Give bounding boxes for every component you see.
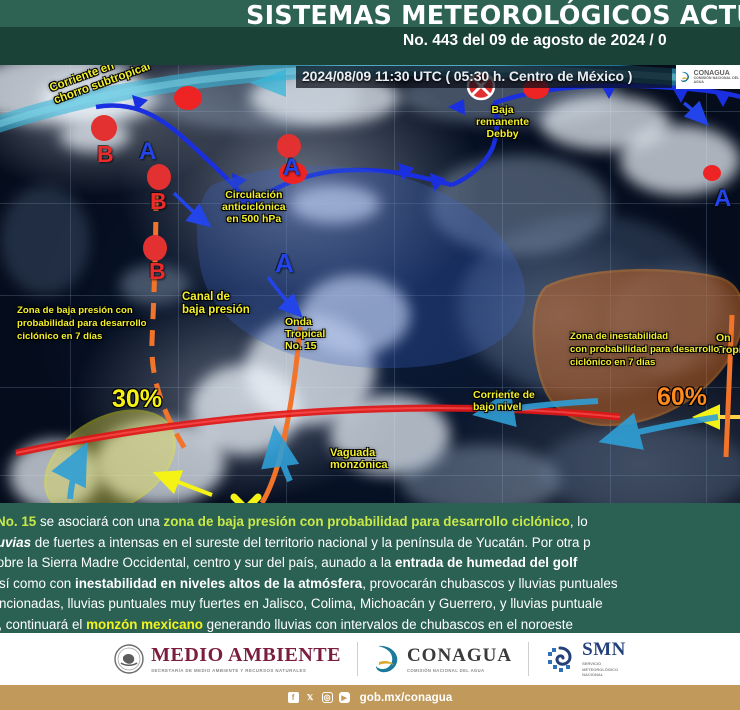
body-l2-a: de lluvias: [0, 535, 31, 550]
conagua-text: CONAGUA COMISIÓN NACIONAL DEL AGUA: [407, 646, 512, 673]
smn-subtitle: SERVICIO METEOROLÓGICO NACIONAL: [582, 661, 626, 677]
high-pressure-mark-a3: A: [275, 250, 294, 276]
map-timestamp: 2024/08/09 11:30 UTC ( 05:30 h. Centro d…: [302, 68, 632, 84]
website-url[interactable]: gob.mx/conagua: [360, 692, 453, 704]
medio-ambiente-subtitle: SECRETARÍA DE MEDIO AMBIENTE Y RECURSOS …: [151, 668, 341, 673]
conagua-title: CONAGUA: [407, 646, 512, 665]
facebook-icon[interactable]: f: [288, 692, 299, 703]
conagua-eagle-icon: [374, 643, 400, 675]
high-pressure-mark-a4: A: [714, 187, 731, 211]
body-l6-b: monzón mexicano: [86, 617, 203, 632]
body-l3-b: sobre la Sierra Madre Occidental, centro…: [0, 555, 395, 570]
logo-smn: SMN SERVICIO METEOROLÓGICO NACIONAL: [529, 640, 642, 677]
bulletin-number: No. 443 del 09 de agosto de 2024 / 0: [403, 32, 667, 50]
body-l3-c: entrada de humedad del golf: [395, 555, 577, 570]
body-line-5: s mencionadas, lluvias puntuales muy fue…: [0, 594, 740, 615]
conagua-chip-text: CONAGUA COMISIÓN NACIONAL DEL AGUA: [694, 70, 740, 84]
smn-title: SMN: [582, 640, 626, 659]
weather-bulletin-page: SISTEMAS METEOROLÓGICOS ACTU No. 443 del…: [0, 0, 740, 710]
body-l6-a: ismo, continuará el: [0, 617, 86, 632]
body-l1-b: se asociará con una: [36, 514, 163, 529]
satellite-map[interactable]: Corriente en chorro subtropical Circulac…: [0, 65, 740, 503]
body-l4-d: , provocarán chubascos y lluvias puntual…: [362, 576, 617, 591]
cyclone-zone-yellow-probability: 30%: [112, 387, 162, 412]
body-l5-a: s mencionadas, lluvias puntuales muy fue…: [0, 596, 603, 611]
body-line-1: ical No. 15 se asociará con una zona de …: [0, 512, 740, 533]
smn-text: SMN SERVICIO METEOROLÓGICO NACIONAL: [582, 640, 626, 677]
medio-ambiente-title: MEDIO AMBIENTE: [151, 645, 341, 665]
high-pressure-mark-a2: A: [283, 156, 300, 180]
smn-spiral-icon: [545, 644, 575, 674]
footer-logos: MEDIO AMBIENTE SECRETARÍA DE MEDIO AMBIE…: [0, 633, 740, 685]
conagua-subtitle: COMISIÓN NACIONAL DEL AGUA: [407, 668, 512, 673]
body-l6-c: generando lluvias con intervalos de chub…: [203, 617, 573, 632]
conagua-eagle-icon: [680, 69, 691, 85]
low-pressure-mark-b3: B: [149, 260, 166, 283]
weather-overlay: [0, 65, 740, 503]
high-pressure-mark-a1: A: [139, 140, 156, 164]
body-l2-b: de fuertes a intensas en el sureste del …: [31, 535, 591, 550]
mexico-seal-icon: [114, 644, 144, 674]
low-pressure-mark-b2: B: [150, 190, 167, 213]
footer-social-bar: f 𝕏 ◎ ▶ gob.mx/conagua: [0, 685, 740, 710]
body-l1-a: ical No. 15: [0, 514, 36, 529]
youtube-icon[interactable]: ▶: [339, 692, 350, 703]
logo-conagua: CONAGUA COMISIÓN NACIONAL DEL AGUA: [358, 643, 528, 675]
body-l4-c: inestabilidad en niveles altos de la atm…: [75, 576, 362, 591]
body-l4-b: , así como con: [0, 576, 75, 591]
logo-medio-ambiente: MEDIO AMBIENTE SECRETARÍA DE MEDIO AMBIE…: [98, 644, 357, 674]
low-pressure-mark-b1: B: [97, 143, 114, 166]
body-line-6: ismo, continuará el monzón mexicano gene…: [0, 615, 740, 636]
body-l1-d: , lo: [570, 514, 588, 529]
conagua-chip-subtitle: COMISIÓN NACIONAL DEL AGUA: [694, 77, 740, 84]
body-line-4: co, así como con inestabilidad en nivele…: [0, 574, 740, 595]
body-line-3: ón sobre la Sierra Madre Occidental, cen…: [0, 553, 740, 574]
bulletin-text-block: ical No. 15 se asociará con una zona de …: [0, 503, 740, 633]
cyclone-zone-orange-probability: 60%: [657, 385, 707, 410]
body-line-2: de lluvias de fuertes a intensas en el s…: [0, 533, 740, 554]
anticyclonic-circulation-500hpa: [197, 166, 525, 368]
body-l1-c: zona de baja presión con probabilidad pa…: [164, 514, 570, 529]
medio-ambiente-text: MEDIO AMBIENTE SECRETARÍA DE MEDIO AMBIE…: [151, 645, 341, 673]
conagua-watermark-logo: CONAGUA COMISIÓN NACIONAL DEL AGUA: [676, 65, 740, 89]
x-twitter-icon[interactable]: 𝕏: [305, 692, 316, 703]
page-title: SISTEMAS METEOROLÓGICOS ACTU: [246, 1, 740, 31]
instagram-icon[interactable]: ◎: [322, 692, 333, 703]
